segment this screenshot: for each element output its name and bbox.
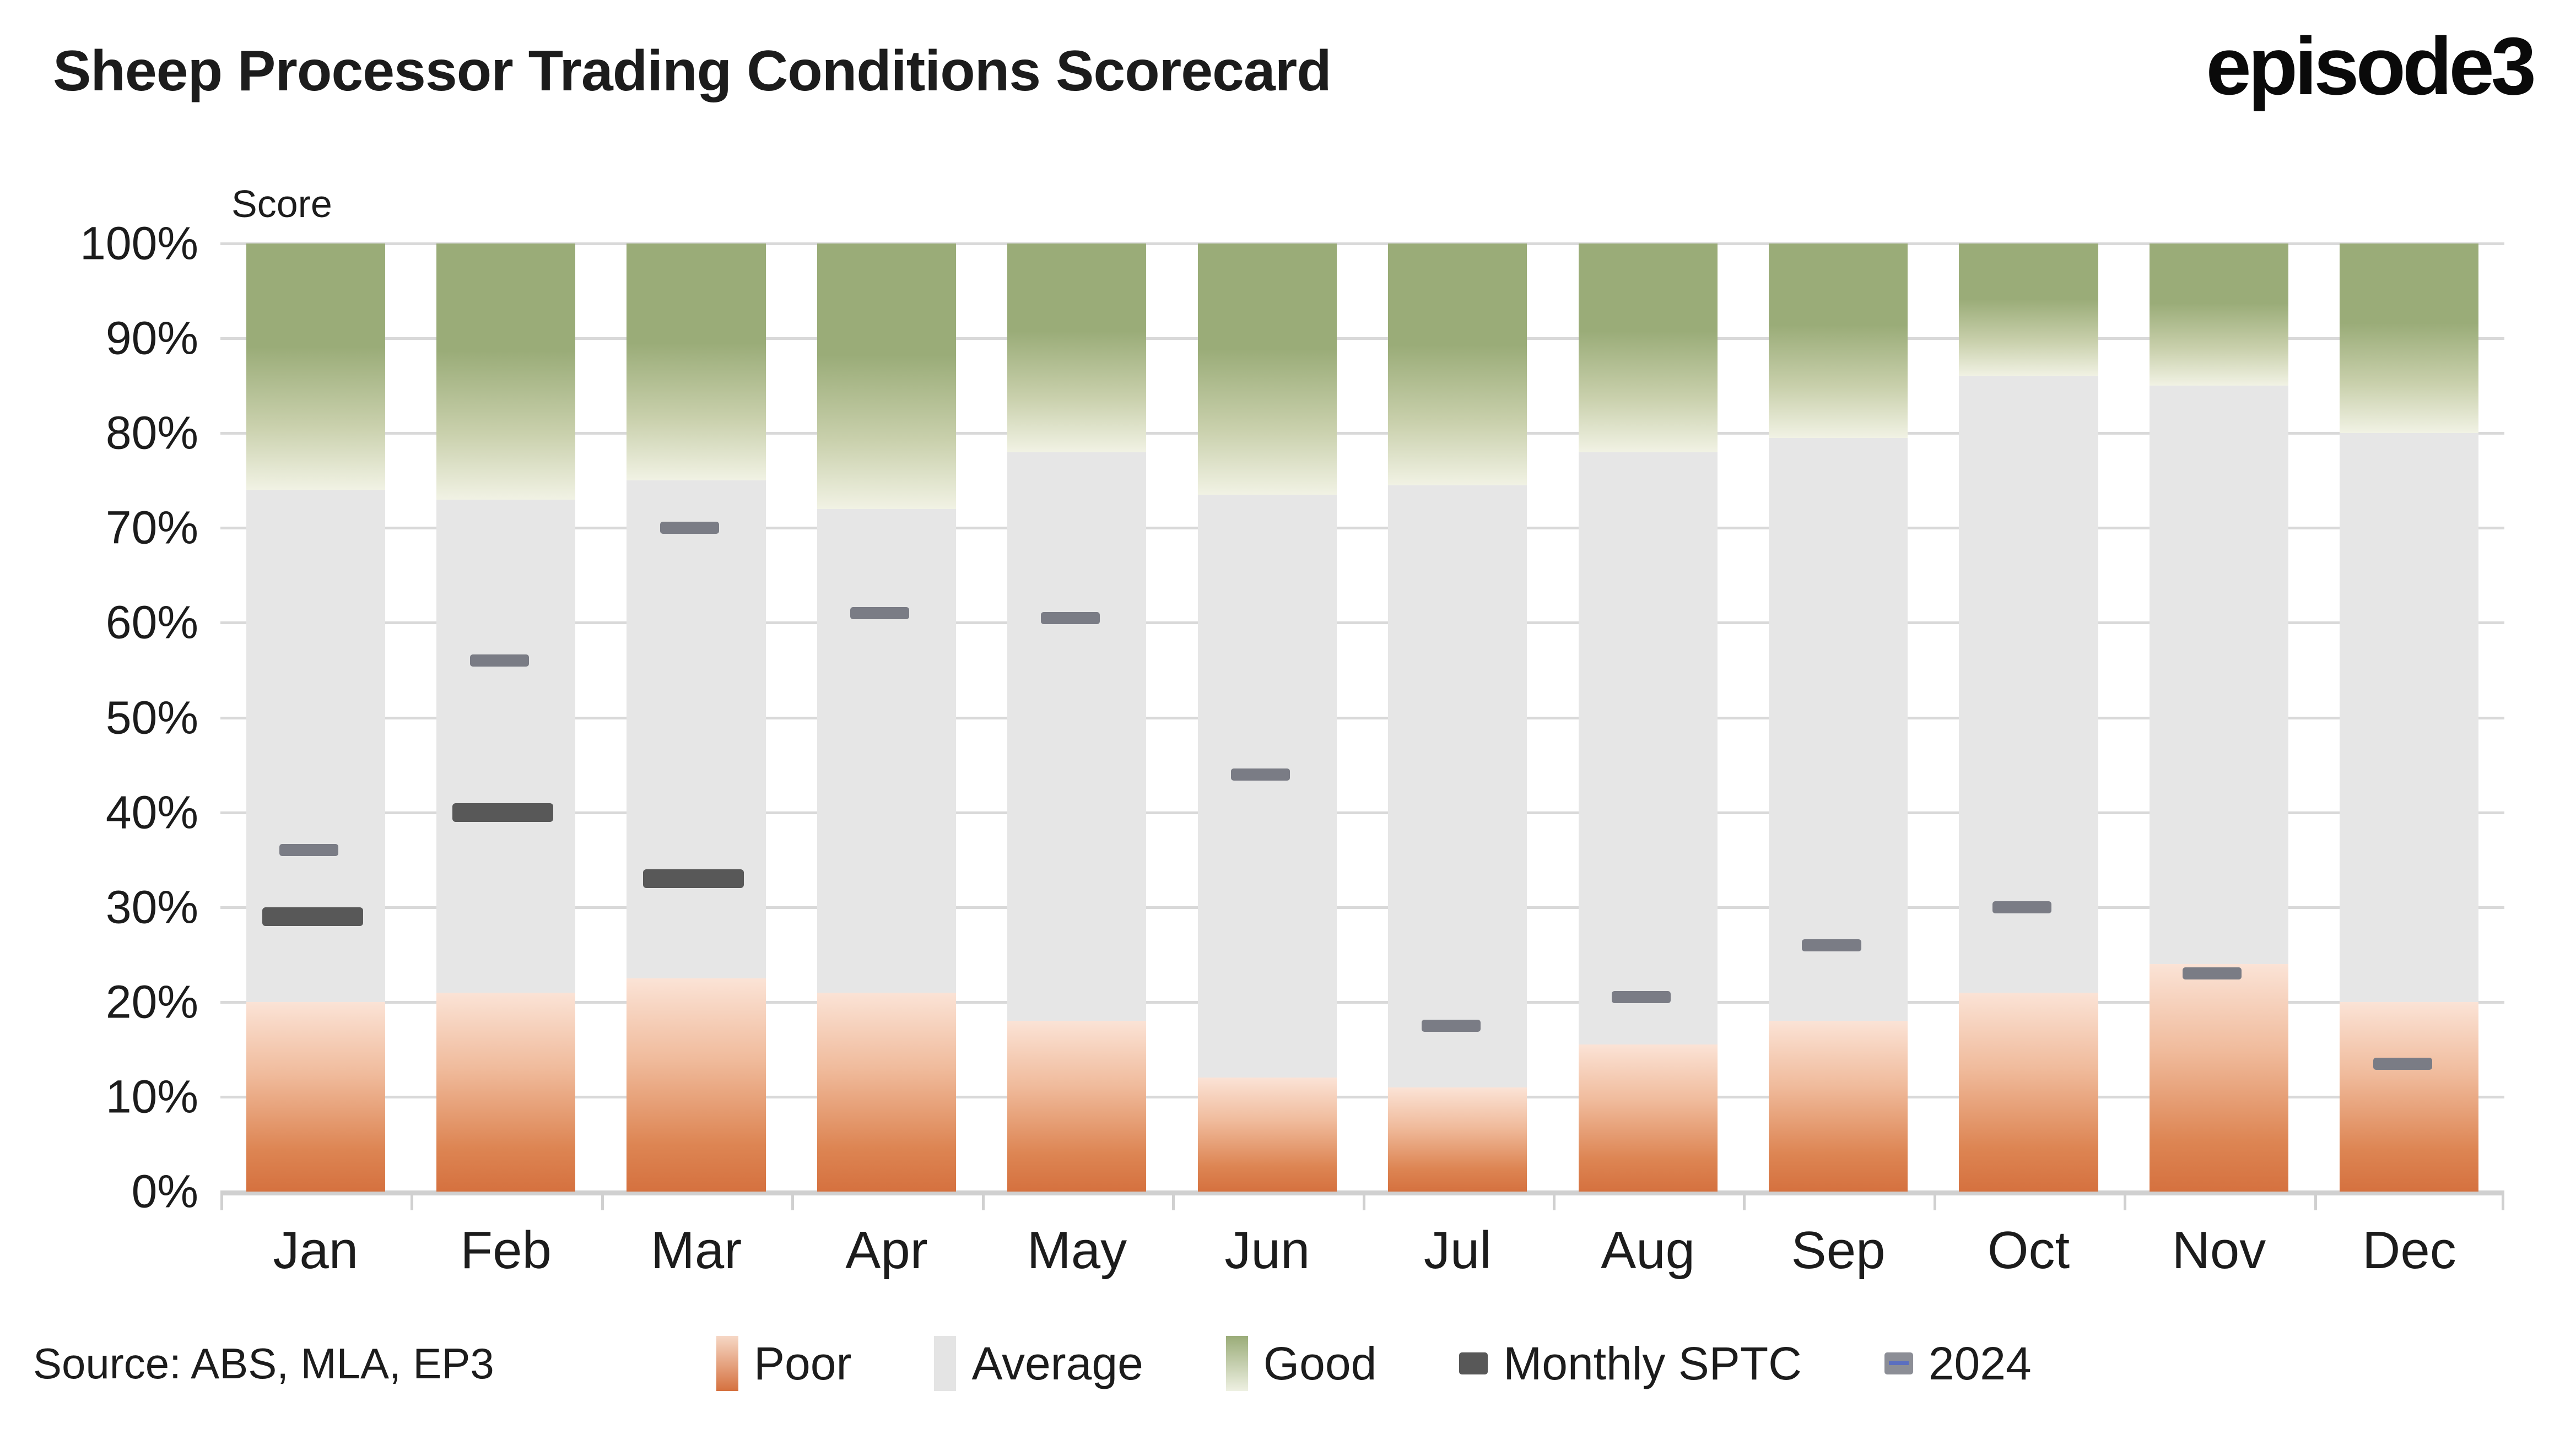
bar-segment-average xyxy=(1198,495,1337,1078)
stacked-bar[interactable] xyxy=(1959,243,2098,1192)
x-axis-labels: JanFebMarAprMayJunJulAugSepOctNovDec xyxy=(220,1220,2504,1281)
bar-segment-good xyxy=(1388,243,1527,485)
bar-segment-average xyxy=(817,509,956,993)
page-title: Sheep Processor Trading Conditions Score… xyxy=(53,39,1331,104)
y-axis-tick-label: 30% xyxy=(11,880,198,934)
bar-column[interactable] xyxy=(1743,243,1933,1192)
x-axis-tick-label: Apr xyxy=(791,1220,981,1281)
x-axis-tick-label: Oct xyxy=(1934,1220,2124,1281)
x-axis-tick xyxy=(1172,1192,1362,1210)
marker-monthly-sptc xyxy=(643,869,744,888)
y-axis-title: Score xyxy=(231,182,332,226)
bar-column[interactable] xyxy=(2314,243,2504,1192)
bar-segment-good xyxy=(1198,243,1337,495)
bar-segment-good xyxy=(2340,243,2478,433)
chart-canvas: Sheep Processor Trading Conditions Score… xyxy=(0,0,2576,1429)
marker-2024 xyxy=(1422,1020,1481,1032)
bar-column[interactable] xyxy=(982,243,1172,1192)
bar-segment-average xyxy=(1769,438,1908,1021)
x-axis-tick xyxy=(791,1192,981,1210)
x-axis-tick xyxy=(2124,1192,2314,1210)
marker-2024 xyxy=(1992,901,2051,913)
y-axis-tick-label: 50% xyxy=(11,691,198,744)
x-axis-tick-label: Mar xyxy=(601,1220,791,1281)
bar-column[interactable] xyxy=(2124,243,2314,1192)
x-axis-tick xyxy=(1743,1192,1933,1210)
legend-label: Poor xyxy=(754,1337,851,1390)
chart-legend: PoorAverageGoodMonthly SPTC2024 xyxy=(716,1322,2032,1405)
stacked-bar[interactable] xyxy=(1769,243,1908,1192)
chart-footer: Source: ABS, MLA, EP3 PoorAverageGoodMon… xyxy=(0,1322,2576,1405)
legend-item-good[interactable]: Good xyxy=(1226,1336,1377,1391)
bar-segment-good xyxy=(1959,243,2098,376)
bar-columns xyxy=(220,243,2504,1192)
stacked-bar[interactable] xyxy=(1007,243,1146,1192)
stacked-bar[interactable] xyxy=(246,243,385,1192)
stacked-bar[interactable] xyxy=(1198,243,1337,1192)
bar-segment-average xyxy=(1959,376,2098,993)
bar-column[interactable] xyxy=(791,243,981,1192)
marker-2024 xyxy=(2183,967,2242,979)
legend-item-y2024[interactable]: 2024 xyxy=(1884,1337,2032,1390)
bar-segment-good xyxy=(1579,243,1718,452)
legend-item-average[interactable]: Average xyxy=(934,1336,1143,1391)
marker-monthly-sptc xyxy=(262,907,363,926)
bar-segment-average xyxy=(436,500,575,993)
marker-2024 xyxy=(1612,991,1671,1003)
bar-column[interactable] xyxy=(1363,243,1553,1192)
bar-segment-good xyxy=(436,243,575,500)
y-axis-tick-label: 70% xyxy=(11,501,198,555)
x-axis-tick-label: Jul xyxy=(1363,1220,1553,1281)
x-axis-tick-label: Aug xyxy=(1553,1220,1743,1281)
bar-segment-good xyxy=(1769,243,1908,438)
bar-segment-poor xyxy=(2340,1002,2478,1192)
y-axis-tick-label: 90% xyxy=(11,312,198,365)
x-axis-tick-label: Jun xyxy=(1172,1220,1362,1281)
x-axis-tick-label: Dec xyxy=(2314,1220,2504,1281)
marker-2024 xyxy=(850,607,909,619)
bar-segment-poor xyxy=(1579,1044,1718,1192)
x-axis-tick-label: Jan xyxy=(220,1220,411,1281)
x-axis-tick xyxy=(2314,1192,2504,1210)
bar-segment-poor xyxy=(1388,1087,1527,1192)
stacked-bar[interactable] xyxy=(2150,243,2288,1192)
y-axis-tick-label: 80% xyxy=(11,407,198,460)
bar-segment-average xyxy=(2150,386,2288,964)
marker-2024 xyxy=(2373,1058,2432,1070)
legend-label: Average xyxy=(971,1337,1143,1390)
stacked-bar[interactable] xyxy=(1579,243,1718,1192)
y-axis-tick-label: 40% xyxy=(11,786,198,839)
x-axis-tick xyxy=(1934,1192,2124,1210)
x-axis-ticks xyxy=(220,1192,2504,1210)
bar-segment-good xyxy=(1007,243,1146,452)
x-axis-tick-label: Feb xyxy=(411,1220,601,1281)
marker-2024 xyxy=(660,522,719,534)
bar-column[interactable] xyxy=(220,243,411,1192)
stacked-bar[interactable] xyxy=(436,243,575,1192)
bar-segment-average xyxy=(1388,485,1527,1087)
bar-column[interactable] xyxy=(1934,243,2124,1192)
legend-swatch-y2024-icon xyxy=(1884,1352,1913,1374)
y-axis-tick-label: 10% xyxy=(11,1070,198,1123)
source-note: Source: ABS, MLA, EP3 xyxy=(33,1322,494,1405)
stacked-bar[interactable] xyxy=(1388,243,1527,1192)
stacked-bar[interactable] xyxy=(627,243,765,1192)
bar-segment-average xyxy=(2340,433,2478,1002)
x-axis-tick xyxy=(220,1192,411,1210)
stacked-bar[interactable] xyxy=(817,243,956,1192)
bar-column[interactable] xyxy=(601,243,791,1192)
bar-segment-poor xyxy=(1769,1021,1908,1192)
legend-item-poor[interactable]: Poor xyxy=(716,1336,851,1391)
plot-area xyxy=(220,243,2504,1192)
bar-column[interactable] xyxy=(1553,243,1743,1192)
bar-segment-good xyxy=(817,243,956,509)
legend-label: 2024 xyxy=(1929,1337,2032,1390)
legend-label: Monthly SPTC xyxy=(1503,1337,1802,1390)
bar-segment-poor xyxy=(436,993,575,1192)
bar-column[interactable] xyxy=(1172,243,1362,1192)
bar-segment-good xyxy=(627,243,765,480)
marker-2024 xyxy=(279,844,338,856)
bar-segment-average xyxy=(627,480,765,978)
bar-segment-poor xyxy=(627,978,765,1192)
x-axis-tick xyxy=(411,1192,601,1210)
y-axis-tick-label: 60% xyxy=(11,596,198,649)
legend-swatch-poor-icon xyxy=(716,1336,738,1391)
x-axis-tick-label: Nov xyxy=(2124,1220,2314,1281)
legend-swatch-good-icon xyxy=(1226,1336,1248,1391)
bar-segment-poor xyxy=(817,993,956,1192)
legend-swatch-sptc-icon xyxy=(1459,1352,1488,1374)
x-axis-tick xyxy=(982,1192,1172,1210)
y-axis-tick-labels: 100%90%80%70%60%50%40%30%20%10%0% xyxy=(0,243,209,1192)
bar-segment-good xyxy=(2150,243,2288,386)
bar-segment-poor xyxy=(1959,993,2098,1192)
x-axis-tick xyxy=(1553,1192,1743,1210)
stacked-bar[interactable] xyxy=(2340,243,2478,1192)
x-axis-tick xyxy=(601,1192,791,1210)
bar-segment-poor xyxy=(1007,1021,1146,1192)
bar-segment-good xyxy=(246,243,385,490)
marker-2024 xyxy=(1802,939,1861,951)
bar-segment-average xyxy=(1579,452,1718,1045)
x-axis-tick-label: Sep xyxy=(1743,1220,1933,1281)
x-axis-tick xyxy=(1363,1192,1553,1210)
bar-segment-average xyxy=(1007,452,1146,1021)
brand-logo: episode3 xyxy=(2206,20,2533,113)
marker-2024 xyxy=(470,654,529,667)
bar-segment-poor xyxy=(2150,964,2288,1192)
legend-swatch-average-icon xyxy=(934,1336,956,1391)
legend-item-sptc[interactable]: Monthly SPTC xyxy=(1459,1337,1802,1390)
marker-2024 xyxy=(1041,612,1100,624)
bar-segment-poor xyxy=(1198,1078,1337,1192)
bar-column[interactable] xyxy=(411,243,601,1192)
bar-segment-poor xyxy=(246,1002,385,1192)
marker-monthly-sptc xyxy=(452,803,553,822)
y-axis-tick-label: 0% xyxy=(11,1165,198,1219)
legend-label: Good xyxy=(1263,1337,1377,1390)
y-axis-tick-label: 100% xyxy=(11,217,198,270)
y-axis-tick-label: 20% xyxy=(11,975,198,1029)
x-axis-tick-label: May xyxy=(982,1220,1172,1281)
marker-2024 xyxy=(1231,768,1290,781)
